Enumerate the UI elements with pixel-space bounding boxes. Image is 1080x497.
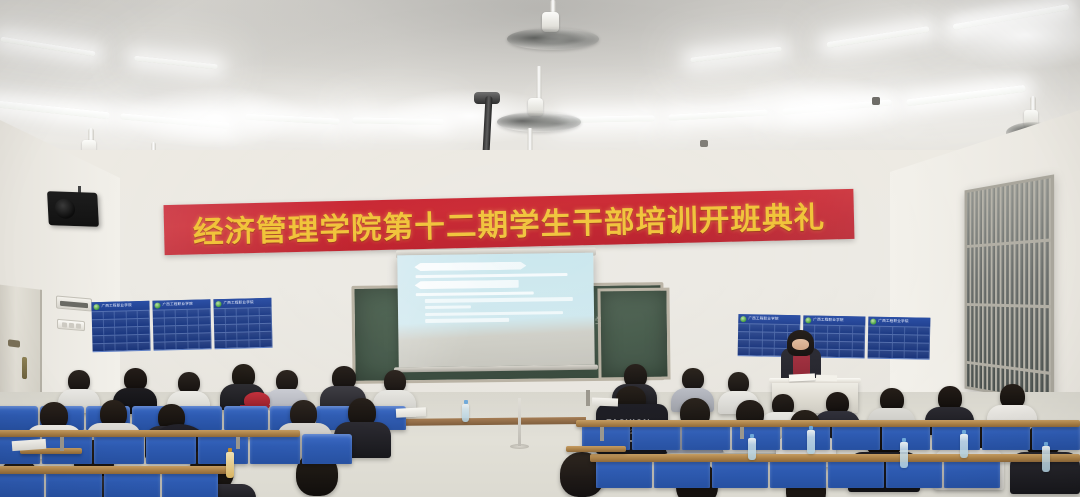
loudspeaker-icon (47, 191, 99, 227)
seat[interactable] (682, 424, 730, 450)
desk-leg (236, 437, 240, 449)
desk (0, 430, 300, 437)
plaque-institution-name: 广西工程职业学院 (813, 318, 843, 324)
plaque-institution-name: 广西工程职业学院 (101, 303, 131, 309)
plaque-institution-name: 广西工程职业学院 (878, 319, 908, 325)
seat-row (0, 470, 220, 497)
desk (590, 454, 1080, 462)
seat[interactable] (632, 424, 680, 450)
podium-papers (816, 375, 837, 382)
water-bottle-icon (1042, 446, 1050, 472)
seat[interactable] (146, 434, 196, 464)
desk-leg (740, 427, 744, 439)
seat[interactable] (1032, 424, 1080, 450)
speaker-head (787, 330, 814, 356)
seat[interactable] (770, 458, 826, 488)
wall-plaque-group-left: 广西工程职业学院 广西工程职业学院 (91, 298, 272, 352)
plaque-institution-name: 广西工程职业学院 (748, 316, 778, 322)
desk-leg (600, 427, 604, 441)
seat[interactable] (654, 458, 710, 488)
seat[interactable] (104, 470, 160, 497)
wall-plaque: 广西工程职业学院 (868, 317, 931, 360)
wall-plaque-group-right: 广西工程职业学院 广西工程职业学院 广西工程 (738, 314, 939, 360)
plaque-institution-name: 广西工程职业学院 (162, 302, 192, 308)
seat[interactable] (162, 470, 218, 497)
school-emblem-icon (93, 304, 99, 310)
water-bottle-icon (960, 434, 968, 458)
water-bottle-icon (900, 442, 908, 468)
audience-head (682, 368, 704, 390)
ceiling-light-glow (120, 86, 310, 148)
seat[interactable] (932, 424, 980, 450)
ceiling-fan-icon (498, 66, 580, 136)
seat[interactable] (832, 424, 880, 450)
slide-bullet-line (425, 318, 509, 322)
seat[interactable] (302, 434, 352, 464)
seat-row (596, 458, 1002, 488)
ceiling-light-glow (720, 76, 920, 140)
slide-bullet-line (425, 311, 563, 316)
seat[interactable] (782, 424, 830, 450)
seat[interactable] (712, 458, 768, 488)
desk (0, 466, 230, 474)
slide-bullet-line (425, 297, 573, 302)
wall-plaque: 广西工程职业学院 (91, 301, 150, 352)
school-emblem-icon (870, 318, 876, 324)
seat[interactable] (94, 434, 144, 464)
water-bottle-icon (226, 452, 234, 478)
desk-leg (586, 390, 590, 406)
ceiling-fan-icon (508, 0, 598, 62)
seat[interactable] (828, 458, 884, 488)
water-bottle-icon (748, 438, 756, 460)
seat[interactable] (944, 458, 1000, 488)
window-icon (965, 174, 1055, 404)
door-handle[interactable] (22, 357, 27, 380)
ceiling-mount-bracket (872, 97, 880, 105)
seat[interactable] (886, 458, 942, 488)
school-emblem-icon (215, 301, 221, 307)
seat[interactable] (46, 470, 102, 497)
school-emblem-icon (154, 302, 160, 308)
desk-notebook (592, 398, 618, 407)
desk (576, 420, 1080, 427)
projector-screen (397, 253, 595, 368)
slide-heading-ribbon (414, 262, 526, 272)
water-bottle-icon (462, 404, 469, 422)
desk-leg (60, 437, 64, 451)
microphone-stand-pole (518, 398, 521, 446)
wall-plaque: 广西工程职业学院 (152, 299, 211, 350)
ceiling-mount-bracket (700, 140, 708, 147)
seat[interactable] (224, 406, 268, 430)
seat[interactable] (0, 470, 44, 497)
school-emblem-icon (740, 316, 746, 322)
seat[interactable] (198, 434, 248, 464)
slide-heading-ribbon (415, 280, 519, 289)
plaque-institution-name: 广西工程职业学院 (223, 300, 253, 306)
wall-plaque: 广西工程职业学院 (213, 298, 272, 349)
slide-bullet-line (425, 305, 471, 309)
slide-bullet-line (415, 272, 567, 277)
seat[interactable] (596, 458, 652, 488)
seat[interactable] (982, 424, 1030, 450)
slide-bullet-line (416, 291, 534, 296)
desk-notebook (396, 407, 426, 418)
lecture-hall-photo: 经济管理学院第十二期学生干部培训开班典礼 值日生 学委 广西工程职业学院 (0, 0, 1080, 497)
seat-row (582, 424, 1080, 450)
podium-papers (789, 373, 815, 381)
door-lock-plate (8, 339, 20, 347)
water-bottle-icon (807, 430, 815, 454)
seat[interactable] (250, 434, 300, 464)
school-emblem-icon (805, 317, 811, 323)
desk (566, 446, 626, 452)
